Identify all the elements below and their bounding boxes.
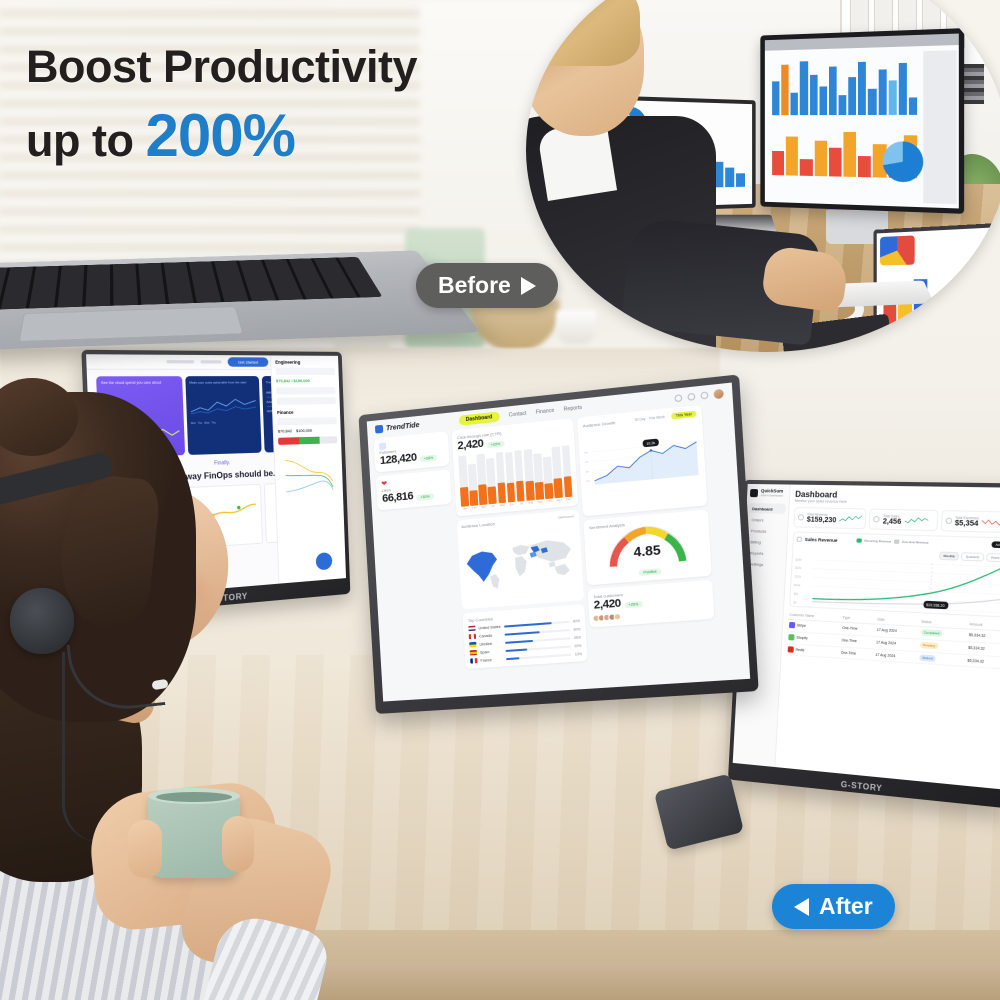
range-30day[interactable]: 30 Day <box>635 417 646 422</box>
svg-text:$10k: $10k <box>794 583 801 587</box>
add-button[interactable]: Add <box>991 541 1000 548</box>
svg-text:80k: 80k <box>584 452 588 454</box>
svg-text:$15k: $15k <box>795 574 802 578</box>
inset-large-monitor <box>760 28 964 214</box>
total-customers-card: Total customers 2,420+25% <box>588 580 715 628</box>
quicksum-brand-sub: Admin Dashboard <box>761 493 784 497</box>
audience-growth-line-chart: 80k60k40k20k <box>583 421 701 500</box>
gstory-logo-right: G-STORY <box>841 780 883 794</box>
chart-tooltip: 10.2k <box>643 439 659 448</box>
range-yearly[interactable]: Yearly <box>986 553 1000 562</box>
svg-text:40k: 40k <box>586 471 590 473</box>
finops-hero-caption: See the cloud spend you care about <box>101 380 178 385</box>
tab-finance[interactable]: Finance <box>536 408 555 416</box>
sidebar-item-billing[interactable]: Billing <box>747 536 784 547</box>
right-main: Dashboard Monitor your sales revenue her… <box>775 485 1000 790</box>
kpi-value: $159,230 <box>807 516 837 524</box>
laptop-screen: TrendTide Dashboard Contact Finance Repo… <box>367 383 750 702</box>
audience-growth-card: Audience Growth 30 Day This Week This Ye… <box>577 405 707 517</box>
ctr-card: Click-through rate (CTR) 2,420+29% <box>451 418 578 516</box>
flag-fr-icon <box>470 658 477 664</box>
ctr-and-map-column: Click-through rate (CTR) 2,420+29% <box>451 418 587 669</box>
chart-icon <box>797 536 802 541</box>
cell-date: 17 Aug 2024 <box>874 649 919 664</box>
trendtide-topbar-icons <box>674 388 724 403</box>
country-name: Ukraine <box>479 641 502 647</box>
sales-icon <box>873 516 880 522</box>
expenses-sparkline <box>982 515 1000 529</box>
status-badge: Pending <box>920 642 939 649</box>
tab-reports[interactable]: Reports <box>564 405 583 413</box>
country-pct: 40% <box>573 618 580 623</box>
quicksum-brand: QuickSum Admin Dashboard <box>750 488 787 498</box>
redis-icon <box>788 646 794 652</box>
trendtide-dashboard: TrendTide Dashboard Contact Finance Repo… <box>367 383 750 702</box>
followers-delta: +28% <box>420 454 438 462</box>
right-kpi-row: Total Revenue $159,230 Total Sales 2,456 <box>793 507 1000 533</box>
country-pct: 20% <box>574 643 581 648</box>
cell-amount: $5,334.32 <box>966 654 1000 669</box>
play-right-icon <box>521 277 536 295</box>
headset-earcup <box>10 588 74 654</box>
tab-dashboard[interactable]: Dashboard <box>458 411 499 425</box>
shopify-icon <box>788 634 794 640</box>
quicksum-dashboard: QuickSum Admin Dashboard Dashboard Order… <box>733 484 1000 789</box>
ctr-value: 2,420 <box>457 438 484 453</box>
quicksum-logo-icon <box>750 489 758 497</box>
flag-ca-icon <box>469 634 476 640</box>
kpi-card-likes: ❤ Likes 66,816+30% <box>376 469 452 510</box>
before-photo-inset <box>526 0 1000 352</box>
stripe-icon <box>789 622 795 628</box>
country-pct: 10% <box>575 651 582 656</box>
sales-revenue-line-chart: $25k$20k$15k $10k$5k$0 <box>793 554 1000 620</box>
center-laptop: TrendTide Dashboard Contact Finance Repo… <box>376 414 742 714</box>
headline-percentage: 200% <box>145 102 294 169</box>
sidebar-item-reports[interactable]: Reports <box>747 547 784 558</box>
country-pct: 25% <box>574 635 581 640</box>
total-customers-value: 2,420 <box>593 598 621 612</box>
kpi-total-revenue: Total Revenue $159,230 <box>793 507 866 529</box>
trendtide-app-name: TrendTide <box>386 421 420 432</box>
headset-cord <box>62 652 100 842</box>
finops-cta-button[interactable]: Get started <box>228 357 269 367</box>
svg-text:$20k: $20k <box>795 566 802 570</box>
svg-text:$25k: $25k <box>796 557 803 561</box>
growth-column: Audience Growth 30 Day This Week This Ye… <box>577 405 716 661</box>
transactions-table: Customer Name Type Date Status Amount St… <box>786 611 1000 670</box>
revenue-sparkline <box>839 512 862 525</box>
sales-sparkline <box>904 514 928 527</box>
sidebar-item-orders[interactable]: Orders <box>748 514 785 525</box>
range-quarterly[interactable]: Quarterly <box>961 552 984 561</box>
status-badge: Refund <box>919 654 936 661</box>
before-badge[interactable]: Before <box>416 263 558 308</box>
bell-icon[interactable] <box>687 392 695 400</box>
ctr-delta: +29% <box>486 440 504 448</box>
product-marketing-image: Boost Productivity up to 200% <box>0 0 1000 1000</box>
svg-text:60k: 60k <box>585 462 589 464</box>
kpi-total-expenses: Total Expenses $5,354 <box>940 510 1000 533</box>
fingers-left <box>128 820 162 878</box>
kpi-value: $5,354 <box>955 519 979 527</box>
total-customers-delta: +25% <box>624 601 643 609</box>
audience-growth-title: Audience Growth <box>583 419 616 427</box>
headline: Boost Productivity up to 200% <box>26 38 546 175</box>
country-name: Spain <box>480 649 503 655</box>
laptop-trackpad[interactable] <box>18 306 243 341</box>
tab-contact[interactable]: Contact <box>509 411 527 419</box>
expenses-icon <box>945 518 952 525</box>
headline-line-2: up to 200% <box>26 97 546 175</box>
legend-onetime: One-time Revenue <box>902 540 929 545</box>
before-badge-label: Before <box>438 272 511 299</box>
search-icon[interactable] <box>674 394 682 402</box>
likes-delta: +30% <box>416 493 434 501</box>
status-badge: Completed <box>920 630 942 638</box>
cell-name: Redis <box>796 648 805 653</box>
sidebar-item-products[interactable]: Products <box>748 525 785 536</box>
svg-text:$5k: $5k <box>794 592 799 596</box>
followers-value: 128,420 <box>380 451 417 467</box>
right-monitor-screen: QuickSum Admin Dashboard Dashboard Order… <box>733 484 1000 789</box>
kpi-column: Followers 128,420+28% ❤ Likes 66,816+30% <box>374 431 462 674</box>
after-badge[interactable]: After <box>772 884 895 929</box>
audience-location-card: Audience Location <box>457 510 584 610</box>
kpi-value: 2,456 <box>883 518 902 526</box>
ctr-bar-chart <box>458 445 572 507</box>
legend-recurring: Recurring Revenue <box>864 539 891 544</box>
sidebar-item-dashboard[interactable]: Dashboard <box>749 503 786 514</box>
play-left-icon <box>794 898 809 916</box>
svg-text:20k: 20k <box>586 481 590 483</box>
world-map <box>461 518 579 605</box>
revenue-tooltip: $19,938.20 <box>923 601 948 610</box>
revenue-icon <box>798 514 804 520</box>
after-badge-label: After <box>819 893 873 920</box>
flag-us-icon <box>468 626 475 632</box>
sales-revenue-chart-card: Sales Revenue Recurring Revenue One-time… <box>789 531 1000 617</box>
finops-panel1-value: $70,842 / $100,000 <box>276 378 335 383</box>
cell-name: Shopify <box>796 636 808 641</box>
laptop-keyboard[interactable] <box>0 257 382 312</box>
country-name: United States <box>478 624 501 630</box>
cell-type: One-Time <box>839 646 874 660</box>
chart-title: Sales Revenue <box>805 536 838 542</box>
headline-line-1: Boost Productivity <box>26 38 546 97</box>
sentiment-analysis-card: Sentiment Analysis 4.8 <box>583 510 711 586</box>
sidebar-item-settings[interactable]: Settings <box>746 558 783 569</box>
trendtide-logo: TrendTide <box>375 421 420 434</box>
fingers-right <box>222 816 254 872</box>
headset-mic-tip <box>151 679 168 691</box>
trendtide-body: Followers 128,420+28% ❤ Likes 66,816+30% <box>368 401 749 674</box>
country-name: France <box>480 657 503 663</box>
headline-prefix: up to <box>26 115 145 166</box>
flag-ua-icon <box>469 642 476 648</box>
right-portable-monitor: QuickSum Admin Dashboard Dashboard Order… <box>728 480 1000 808</box>
svg-text:$0: $0 <box>793 600 797 604</box>
range-thisweek[interactable]: This Week <box>649 415 665 421</box>
gear-icon[interactable] <box>700 391 708 399</box>
sentiment-badge: Positive <box>639 568 661 576</box>
top-countries-card: Top Countries United States 40% Canada <box>462 604 587 669</box>
kpi-total-sales: Total Sales 2,456 <box>869 509 938 532</box>
cell-name: Stripe <box>797 624 806 629</box>
range-monthly[interactable]: Monthly <box>939 551 960 560</box>
range-thisyear[interactable]: This Year <box>671 411 696 420</box>
avatar[interactable] <box>713 388 723 398</box>
finops-panel2-value-b: $100,000 <box>296 428 312 433</box>
finops-panel1-title: Engineering <box>275 360 334 365</box>
kpi-card-followers: Followers 128,420+28% <box>374 431 450 473</box>
trendtide-logo-icon <box>375 425 383 434</box>
flag-es-icon <box>470 650 477 656</box>
likes-value: 66,816 <box>382 490 414 505</box>
sentiment-gauge: 4.85 <box>589 520 705 571</box>
country-name: Canada <box>479 632 502 638</box>
foreground-person <box>0 392 296 1000</box>
country-pct: 30% <box>573 627 580 632</box>
